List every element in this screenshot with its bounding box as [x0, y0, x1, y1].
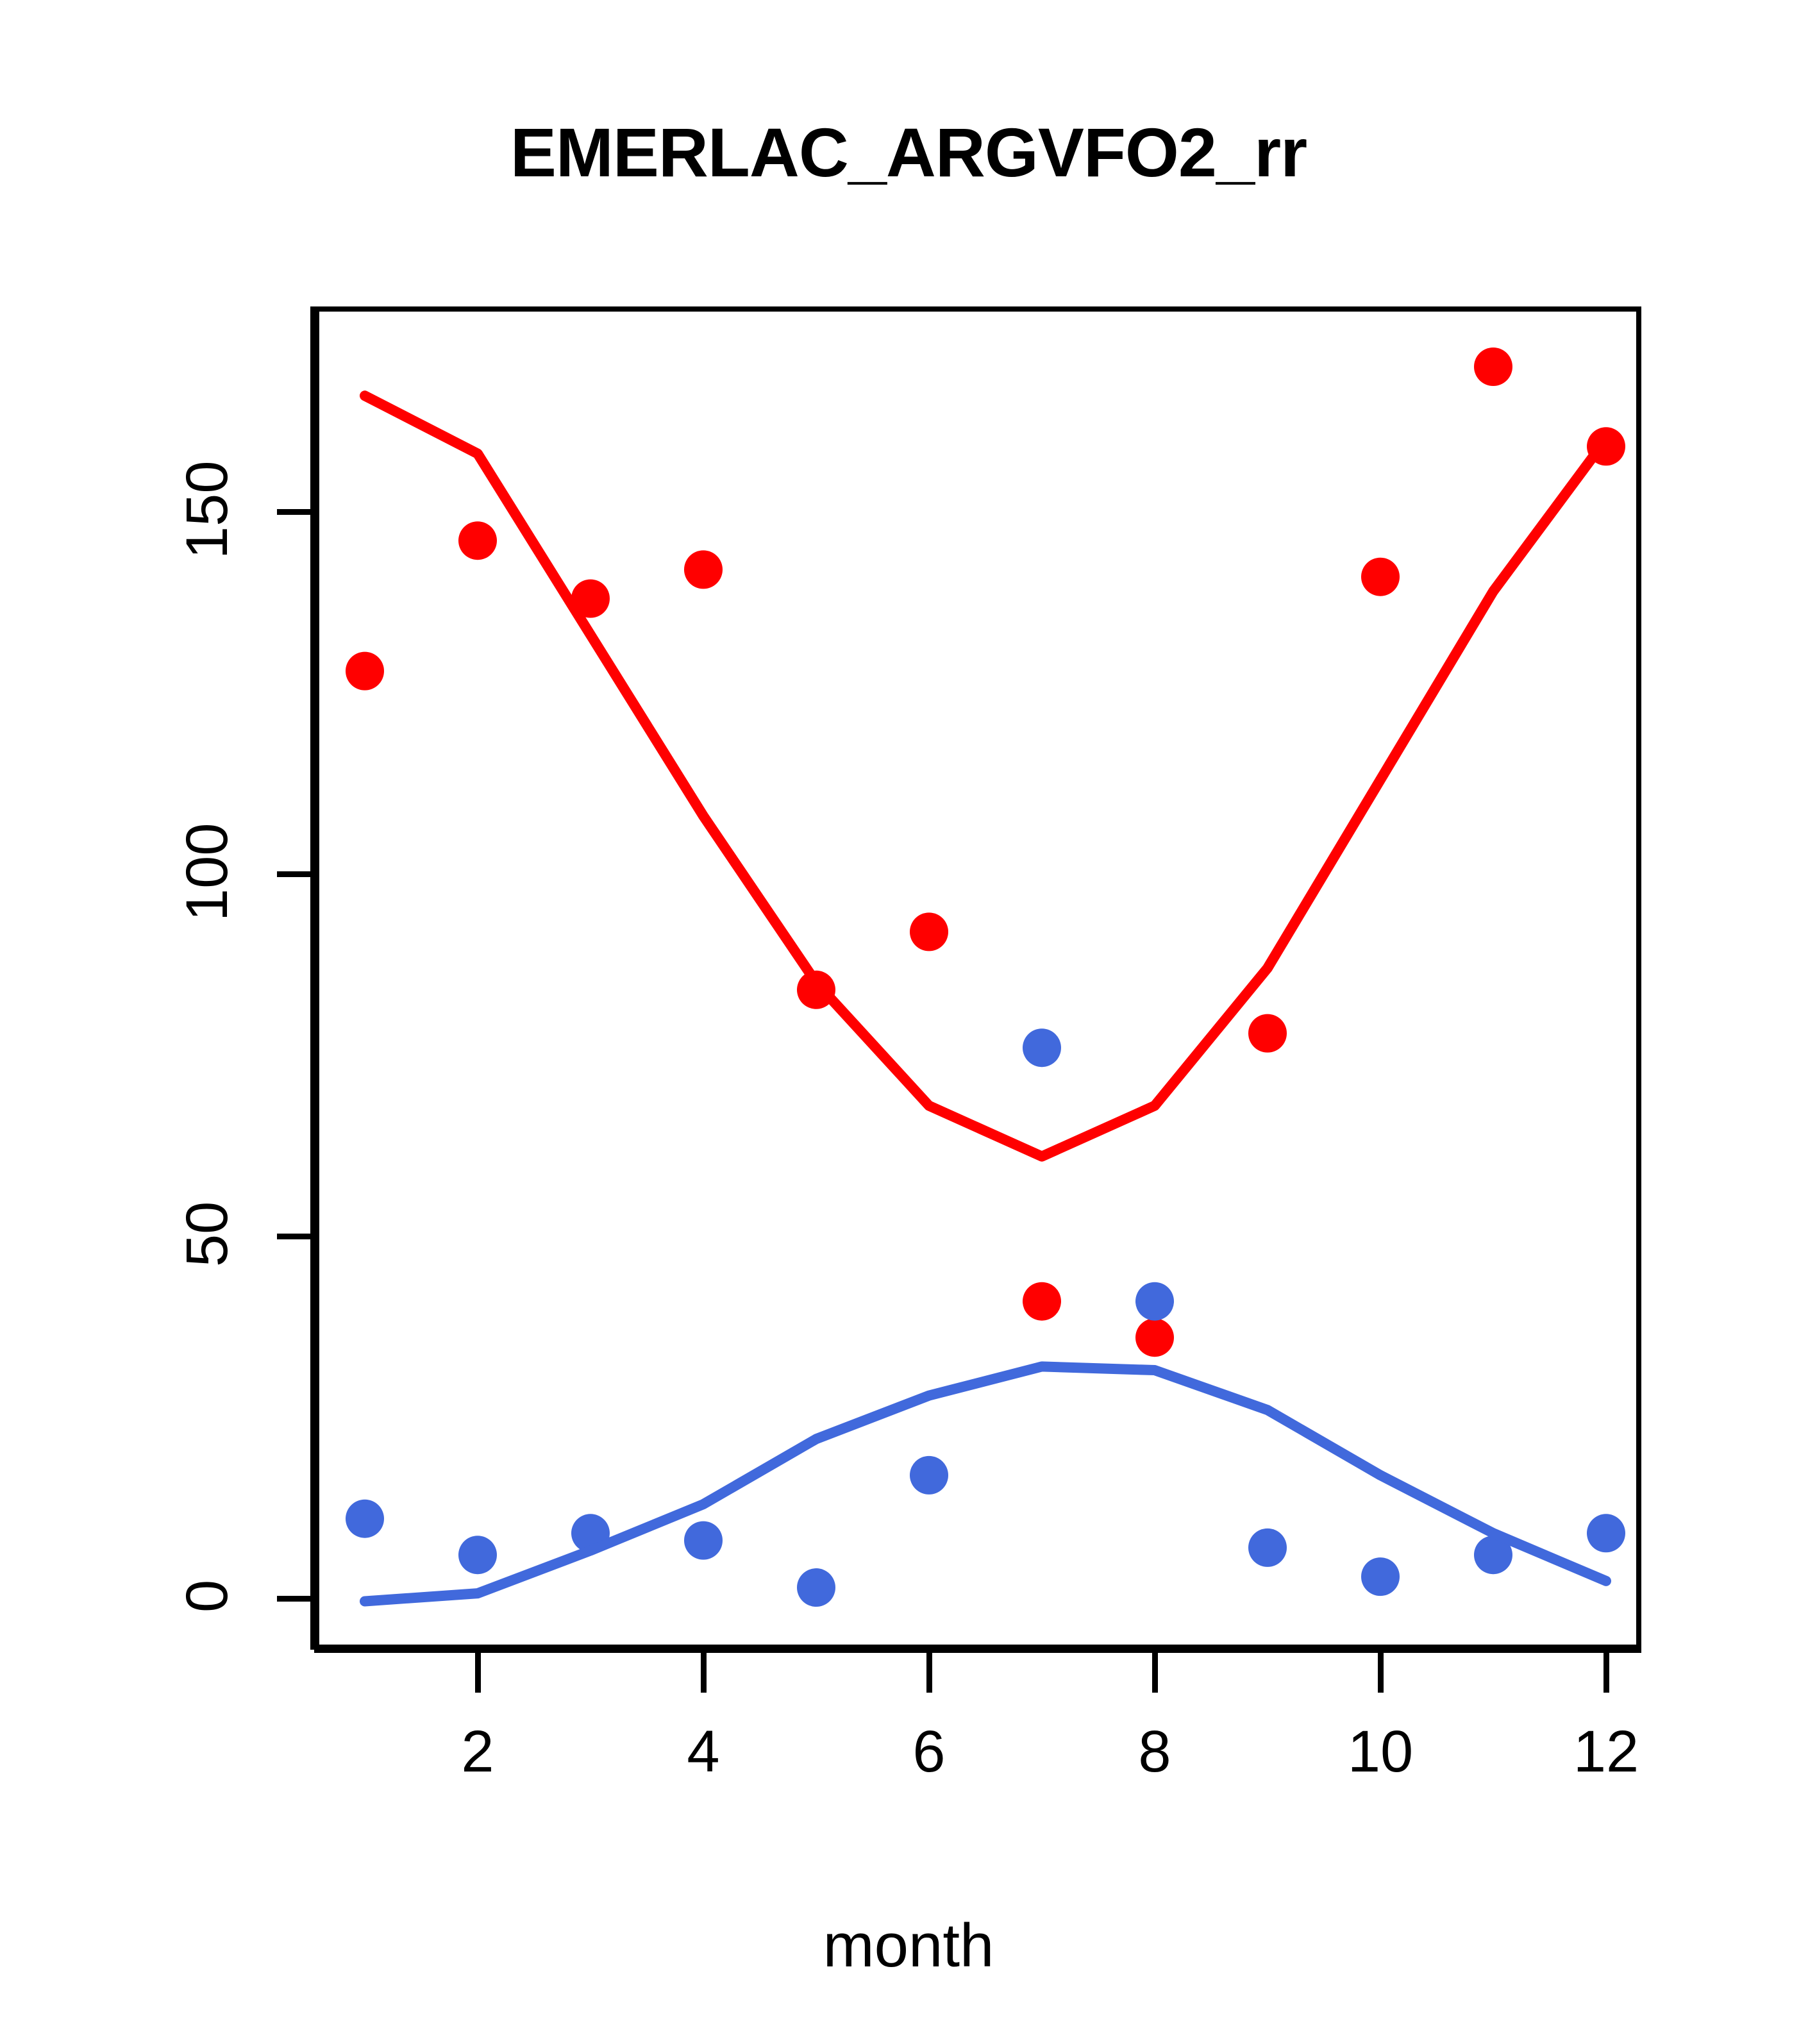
x-tick-4: [701, 1653, 707, 1693]
y-axis-label-150: 150: [174, 442, 241, 577]
data-point-blue-points-9: [1248, 1529, 1287, 1567]
x-axis-label-6: 6: [865, 1718, 993, 1786]
data-point-blue-points-4: [684, 1521, 723, 1560]
series-line-red-line: [365, 396, 1606, 1157]
data-point-red-points-6: [910, 912, 948, 951]
data-point-blue-points-2: [458, 1536, 497, 1574]
data-point-red-points-11: [1474, 348, 1512, 386]
y-tick-50: [277, 1234, 310, 1239]
x-tick-10: [1378, 1653, 1384, 1693]
x-axis-label-12: 12: [1542, 1718, 1670, 1786]
y-axis-label-0: 0: [174, 1572, 241, 1620]
chart-title: EMERLAC_ARGVFO2_rr: [0, 112, 1817, 192]
data-point-red-points-2: [458, 521, 497, 560]
plot-data-layer: [314, 306, 1641, 1650]
data-point-red-points-4: [684, 550, 723, 589]
x-axis-label-10: 10: [1316, 1718, 1444, 1786]
x-axis-label-4: 4: [639, 1718, 767, 1786]
x-tick-8: [1152, 1653, 1158, 1693]
y-tick-150: [277, 509, 310, 515]
data-point-red-points-7: [1023, 1282, 1061, 1321]
y-tick-100: [277, 871, 310, 877]
y-axis-label-50: 50: [174, 1187, 241, 1280]
data-point-red-points-10: [1361, 558, 1400, 596]
x-axis-label-2: 2: [414, 1718, 542, 1786]
data-point-red-points-8: [1135, 1318, 1174, 1357]
x-tick-2: [475, 1653, 481, 1693]
data-point-red-points-9: [1248, 1014, 1287, 1053]
data-point-blue-points-1: [346, 1500, 384, 1538]
data-point-red-points-1: [346, 652, 384, 691]
chart-canvas: EMERLAC_ARGVFO2_rr 150 100 50 0 2 4 6 8 …: [0, 0, 1817, 2044]
y-tick-0: [277, 1596, 310, 1602]
data-point-blue-points-7: [1023, 1028, 1061, 1067]
x-tick-6: [926, 1653, 932, 1693]
data-point-blue-points-10: [1361, 1557, 1400, 1596]
series-line-blue-line: [365, 1366, 1606, 1601]
x-tick-12: [1603, 1653, 1609, 1693]
x-axis-title: month: [0, 1911, 1817, 1981]
data-point-blue-points-12: [1587, 1514, 1625, 1552]
y-axis-label-100: 100: [174, 805, 241, 939]
x-axis-label-8: 8: [1091, 1718, 1219, 1786]
data-point-blue-points-5: [797, 1568, 835, 1607]
data-point-blue-points-8: [1135, 1282, 1174, 1321]
data-point-blue-points-6: [910, 1456, 948, 1495]
